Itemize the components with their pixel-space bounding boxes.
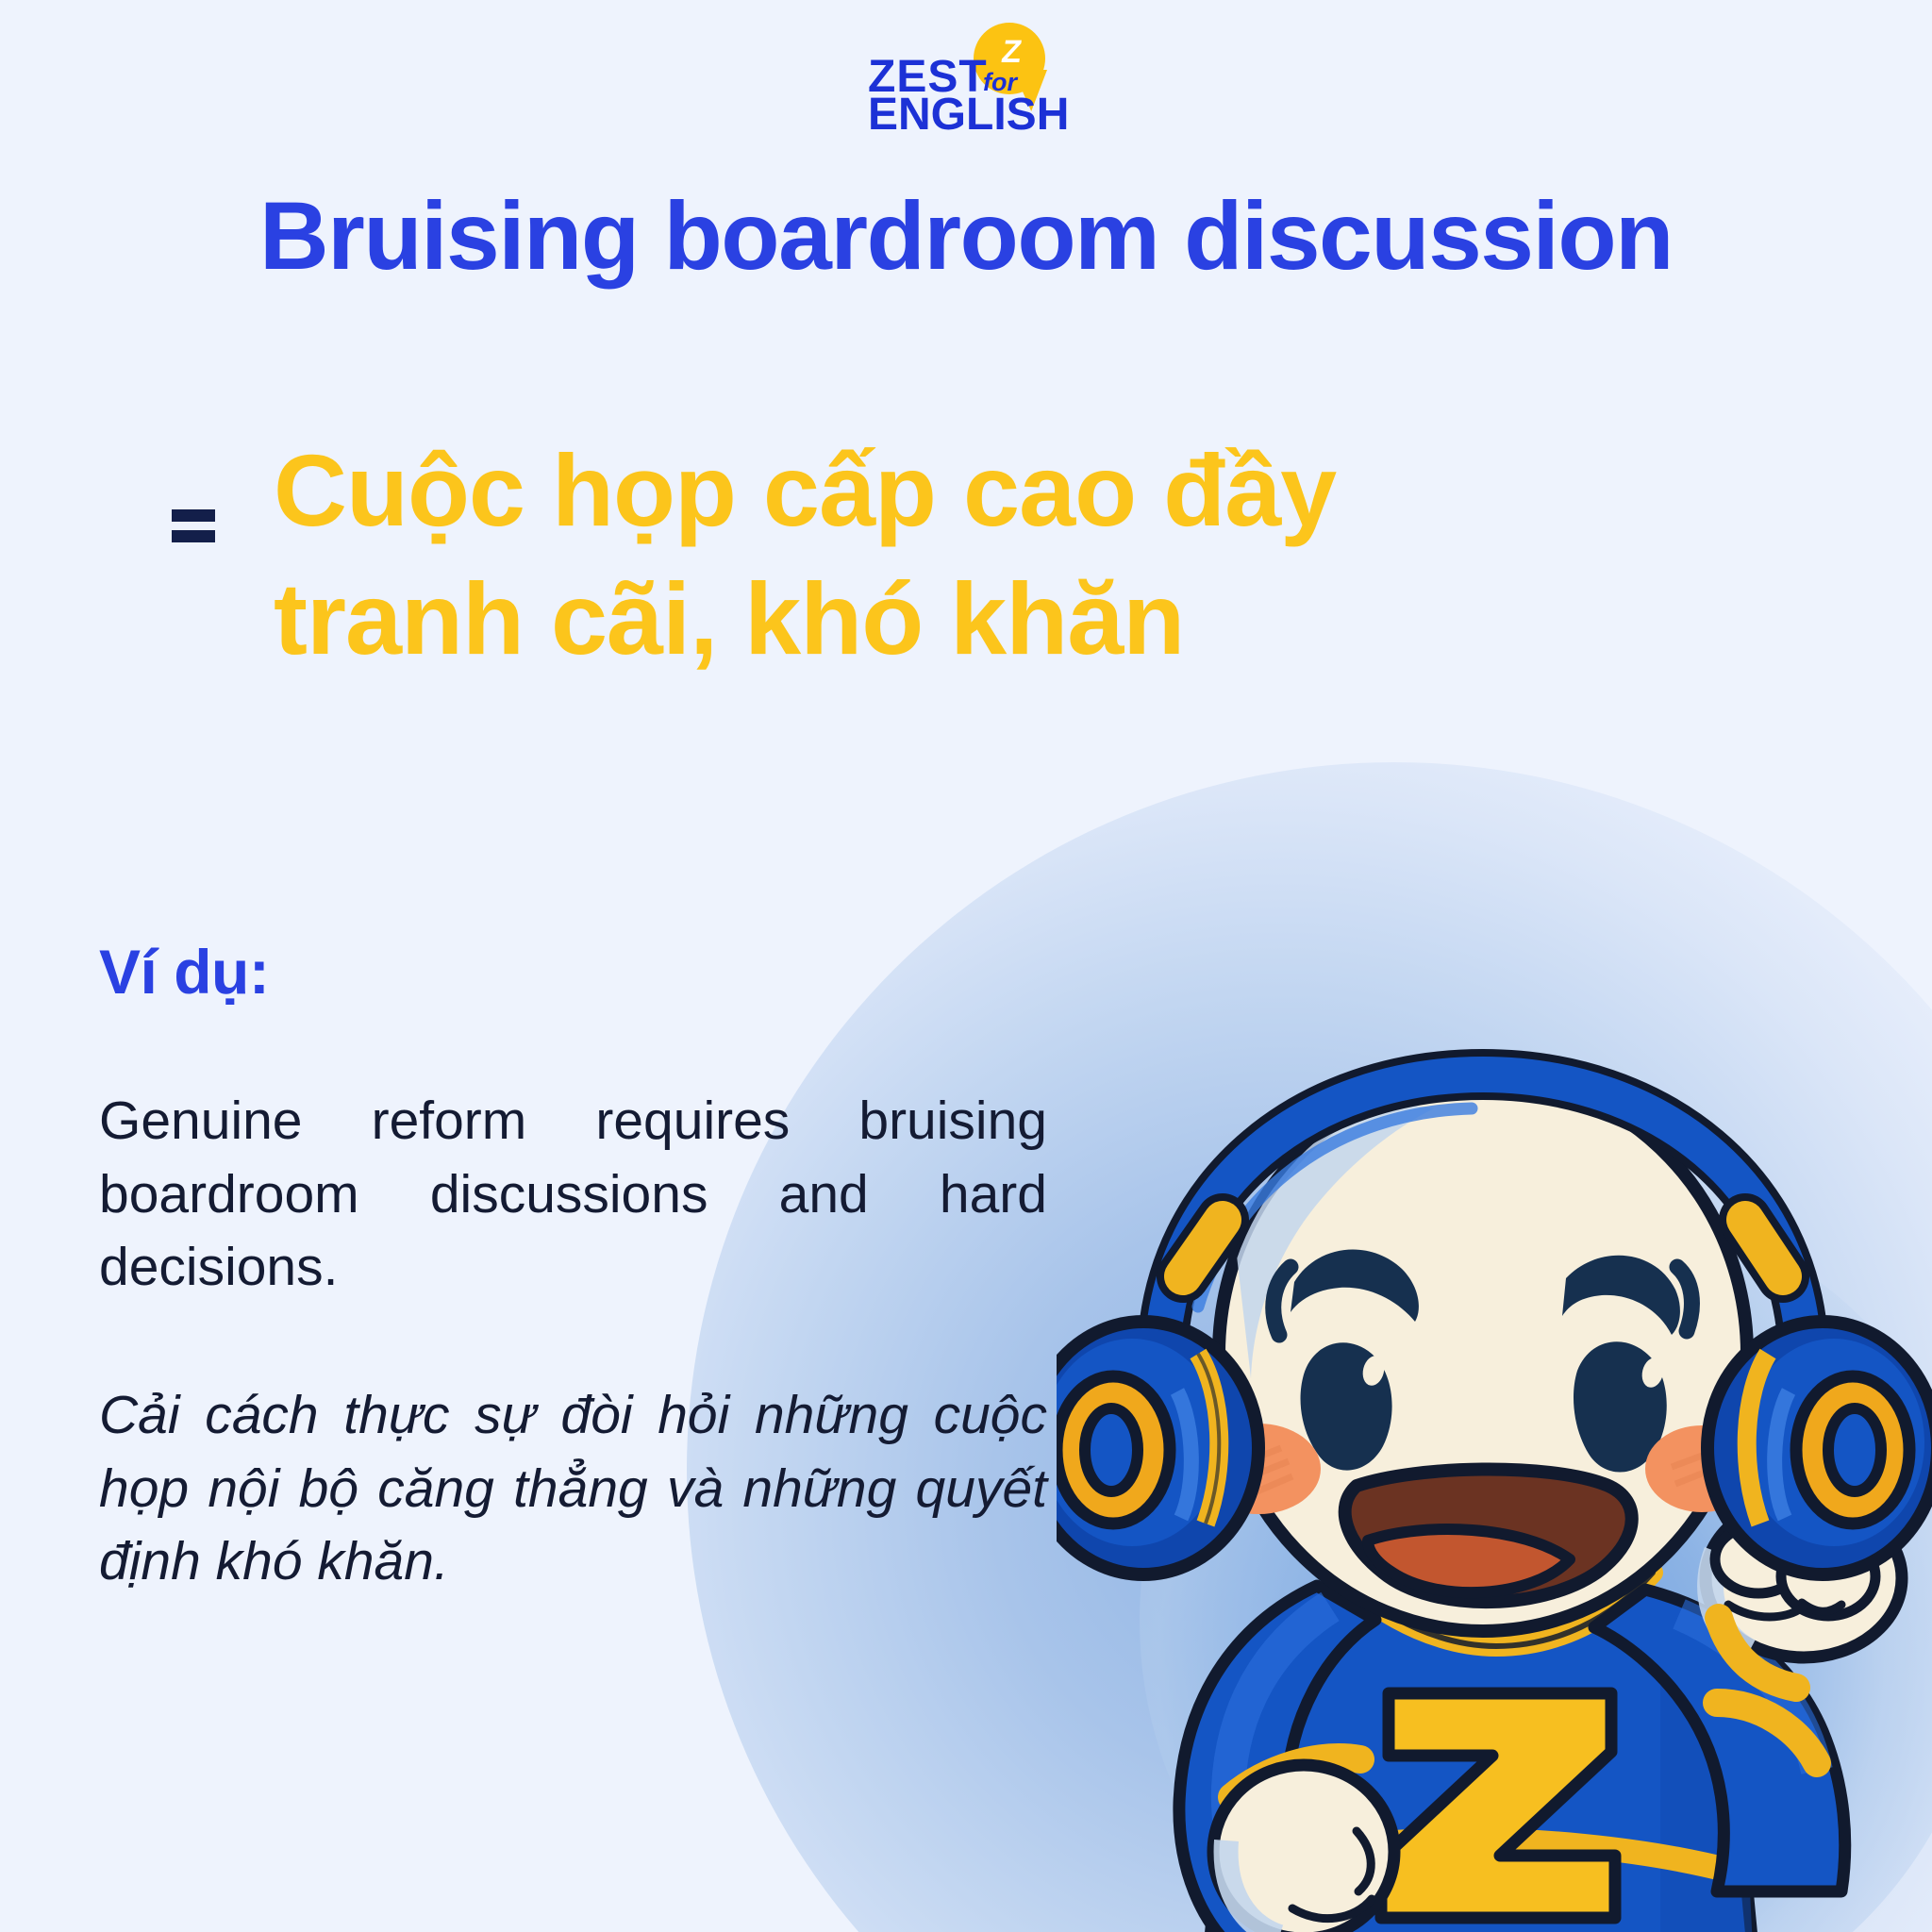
logo-word-english: ENGLISH (868, 92, 1069, 138)
equals-bar-top (172, 509, 215, 522)
equals-bar-bottom (172, 530, 215, 542)
mascot-head (1057, 1074, 1932, 1635)
brand-logo[interactable]: Z ZEST for ENGLISH (834, 21, 1117, 134)
headline-vietnamese: Cuộc họp cấp cao đầy tranh cãi, khó khăn (274, 426, 1613, 683)
example-sentence-english: Genuine reform requires bruising boardro… (99, 1085, 1047, 1305)
infographic-card: Z ZEST for ENGLISH Bruising boardroom di… (0, 0, 1932, 1932)
example-label: Ví dụ: (99, 936, 269, 1008)
headline-english: Bruising boardroom discussion (0, 185, 1932, 287)
zest-mascot (1057, 1042, 1932, 1932)
right-earcup (1707, 1322, 1932, 1574)
equals-sign-icon (172, 509, 215, 543)
example-sentence-vietnamese: Cải cách thực sự đòi hỏi những cuộc họp … (99, 1379, 1047, 1599)
mouth (1345, 1469, 1632, 1602)
left-earcup (1057, 1322, 1258, 1574)
